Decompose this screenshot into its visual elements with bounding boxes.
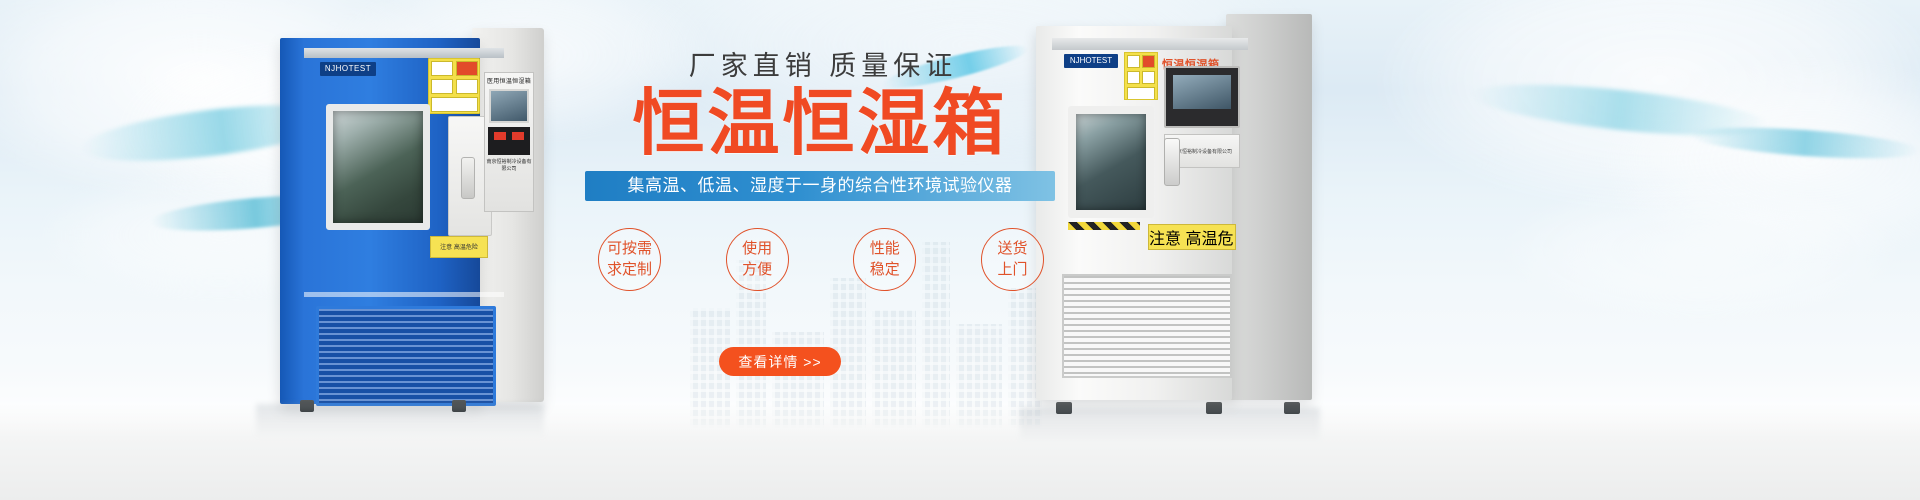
feature-badge-easy-use: 使用 方便 xyxy=(726,228,789,291)
feature-badge-delivery: 送货 上门 xyxy=(981,228,1044,291)
banner-headline: 恒温恒湿箱 xyxy=(560,87,1080,162)
cloud-shape xyxy=(1600,60,1920,260)
teal-swoosh xyxy=(1469,74,1772,145)
banner-copy-block: 厂家直销 质量保证 恒温恒湿箱 集高温、低温、湿度于一身的综合性环境试验仪器 xyxy=(560,44,1080,201)
right-chamber-warning-label: 注意 高温危险 xyxy=(1148,224,1236,250)
feature-badge-line1: 送货 xyxy=(997,239,1027,259)
right-chamber-top xyxy=(1052,38,1248,50)
right-chamber-door-handle xyxy=(1164,138,1180,186)
view-details-button[interactable]: 查看详情 >> xyxy=(719,347,841,376)
teal-swoosh xyxy=(1689,122,1920,164)
left-chamber-control-panel: 医用恒温恒湿箱 南京恒裕制冷设备有限公司 xyxy=(484,72,534,212)
feature-badge-line2: 上门 xyxy=(997,260,1027,280)
feature-badge-line2: 稳定 xyxy=(870,260,900,280)
left-chamber-warning-sticker xyxy=(428,58,480,114)
left-chamber-vent-grille xyxy=(316,306,496,406)
left-chamber-warning-label: 注意 高温危险 xyxy=(430,236,488,258)
left-chamber-readout-block xyxy=(488,127,530,155)
feature-badge-line2: 方便 xyxy=(742,260,772,280)
right-chamber-warning-sticker xyxy=(1124,52,1158,100)
left-chamber-viewing-window xyxy=(326,104,430,230)
cloud-shape xyxy=(1500,180,1900,320)
left-chamber-body: NJHOTEST 注意 高温危险 xyxy=(280,38,480,404)
right-chamber-vent-grille xyxy=(1062,274,1232,378)
right-chamber-reflection xyxy=(1020,408,1320,442)
left-chamber-top xyxy=(304,48,504,58)
left-chamber-panel-title: 医用恒温恒湿箱 xyxy=(485,76,533,85)
feature-badge-line1: 可按需 xyxy=(607,239,652,259)
cloud-shape xyxy=(1380,0,1920,210)
left-chamber-panel-caption: 南京恒裕制冷设备有限公司 xyxy=(485,158,533,172)
feature-badge-line1: 使用 xyxy=(742,239,772,259)
right-chamber-control-panel xyxy=(1164,66,1240,128)
banner-tagline: 厂家直销 质量保证 xyxy=(566,44,1080,83)
feature-badge-list: 可按需 求定制 使用 方便 性能 稳定 送货 上门 xyxy=(598,228,1044,291)
right-chamber-viewing-window xyxy=(1068,106,1154,218)
left-chamber-divider xyxy=(304,292,504,297)
left-chamber-brand-logo: NJHOTEST xyxy=(320,62,376,76)
right-chamber-touch-screen xyxy=(1173,75,1231,109)
feature-badge-stable: 性能 稳定 xyxy=(853,228,916,291)
left-chamber-touch-screen xyxy=(489,89,529,123)
banner-subtitle: 集高温、低温、湿度于一身的综合性环境试验仪器 xyxy=(585,171,1055,201)
feature-badge-line2: 求定制 xyxy=(607,260,652,280)
left-chamber-reflection xyxy=(256,404,544,438)
left-chamber-door-handle xyxy=(461,157,475,199)
feature-badge-custom: 可按需 求定制 xyxy=(598,228,661,291)
right-chamber-hazard-stripe xyxy=(1068,222,1140,230)
product-image-left-chamber: NJHOTEST 注意 高温危险 医用恒温恒湿箱 南京恒裕制冷设备有限公司 xyxy=(256,22,544,404)
promo-banner: NJHOTEST 注意 高温危险 医用恒温恒湿箱 南京恒裕制冷设备有限公司 xyxy=(0,0,1920,500)
feature-badge-line1: 性能 xyxy=(870,239,900,259)
